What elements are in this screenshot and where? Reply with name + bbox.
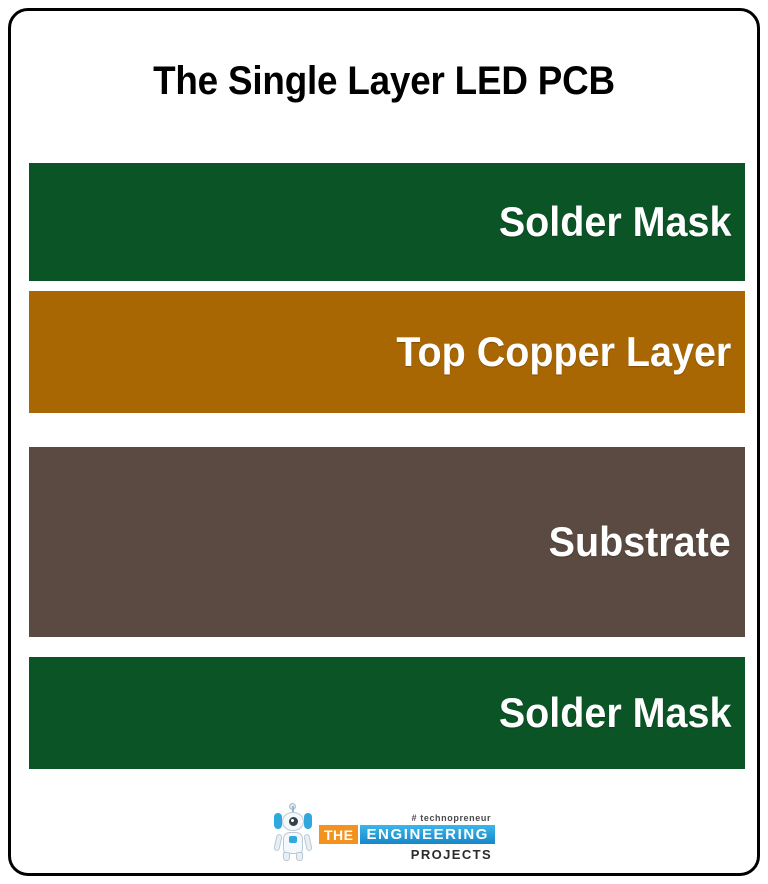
page-title: The Single Layer LED PCB (41, 59, 727, 104)
diagram-frame: The Single Layer LED PCB Solder Mask Top… (8, 8, 760, 876)
logo-wordmark: # technopreneur THE ENGINEERING PROJECTS (319, 813, 495, 862)
layer-band-top-copper-layer: Top Copper Layer (29, 291, 745, 413)
layer-band-solder-mask-bottom: Solder Mask (29, 657, 745, 769)
logo-word-projects: PROJECTS (411, 847, 495, 862)
layer-label: Top Copper Layer (396, 331, 731, 373)
robot-mascot-icon (273, 804, 313, 862)
pcb-layer-stack: Solder Mask Top Copper Layer Substrate S… (29, 163, 745, 769)
site-logo: # technopreneur THE ENGINEERING PROJECTS (11, 804, 757, 862)
layer-band-solder-mask-top: Solder Mask (29, 163, 745, 281)
layer-band-substrate: Substrate (29, 447, 745, 637)
layer-label: Solder Mask (498, 692, 731, 734)
layer-label: Substrate (549, 521, 731, 563)
logo-word-engineering: ENGINEERING (360, 825, 495, 844)
layer-label: Solder Mask (498, 201, 731, 243)
logo-wordmark-row: THE ENGINEERING (319, 825, 495, 844)
logo-tagline: # technopreneur (412, 813, 496, 823)
logo-word-the: THE (319, 825, 359, 844)
